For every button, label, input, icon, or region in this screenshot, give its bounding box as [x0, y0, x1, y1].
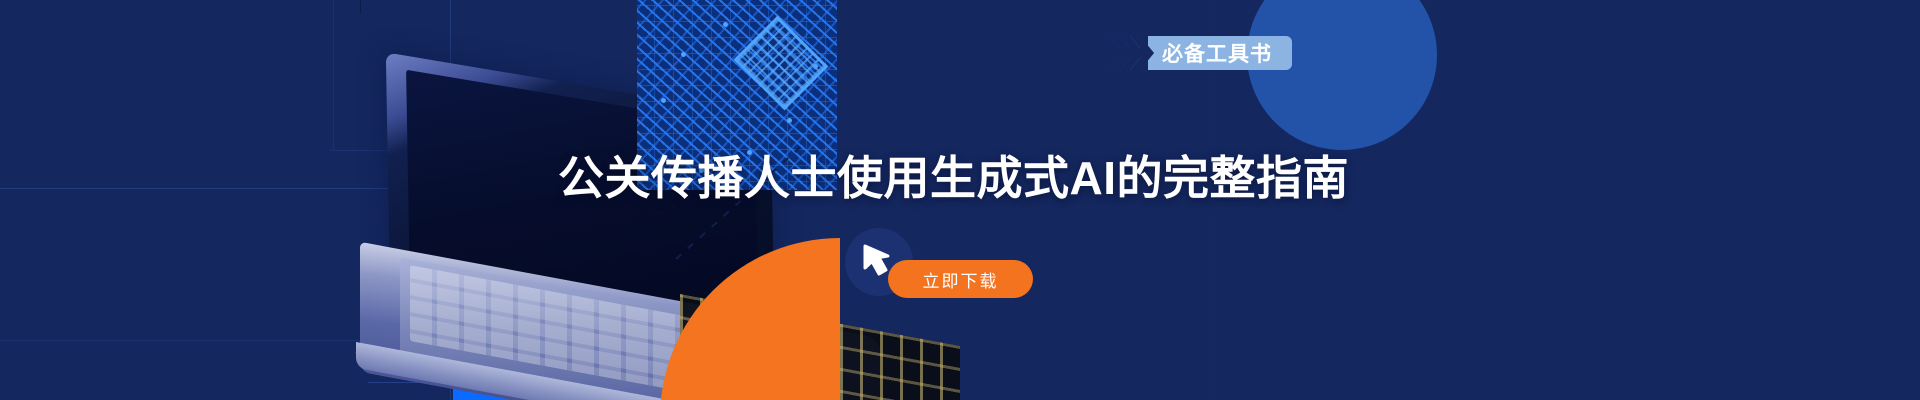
download-button[interactable]: 立即下载	[888, 260, 1033, 298]
circuit-chip-icon	[734, 16, 829, 111]
grid-line-horizontal	[360, 0, 361, 14]
circuit-node-dot	[787, 118, 792, 123]
chevron-right-icon	[1140, 36, 1154, 70]
badge: 必备工具书	[1110, 36, 1292, 70]
badge-pill: 必备工具书	[1148, 36, 1292, 70]
circuit-node-dot	[723, 22, 728, 27]
circuit-node-dot	[681, 52, 686, 57]
blue-circle-decoration	[1247, 0, 1437, 150]
badge-label: 必备工具书	[1162, 38, 1272, 68]
promo-banner: 必备工具书 公关传播人士使用生成式AI的完整指南 立即下载	[0, 0, 1920, 400]
circuit-node-dot	[813, 64, 818, 69]
grid-line-vertical	[333, 0, 334, 150]
circuit-node-dot	[661, 98, 666, 103]
page-title: 公关传播人士使用生成式AI的完整指南	[558, 142, 1349, 208]
